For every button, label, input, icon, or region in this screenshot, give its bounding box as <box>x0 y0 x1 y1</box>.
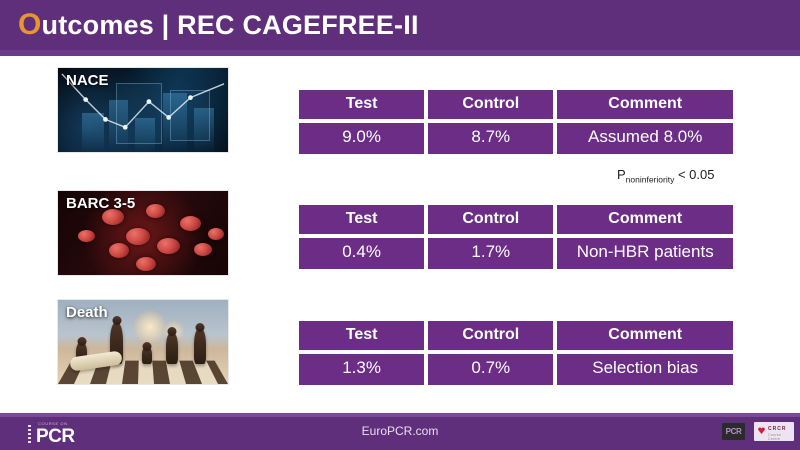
thumbnail-nace[interactable]: NACE <box>57 67 229 153</box>
cell-comment-value: Non-HBR patients <box>555 236 735 271</box>
course-badge-label: CRCR <box>768 426 786 432</box>
column-header-comment: Comment <box>555 88 735 121</box>
cell-test-value: 0.4% <box>297 236 426 271</box>
p-value-annotation: Pnoninferiority < 0.05 <box>617 167 714 185</box>
thumbnail-death[interactable]: Death <box>57 299 229 385</box>
header-accent-strip <box>0 50 800 56</box>
table-header-row: Test Control Comment <box>297 203 735 236</box>
p-comparison: < 0.05 <box>674 167 714 182</box>
p-subscript: noninferiority <box>626 175 675 185</box>
column-header-control: Control <box>426 203 555 236</box>
column-header-control: Control <box>426 319 555 352</box>
cell-control-value: 8.7% <box>426 121 555 156</box>
course-badge-icon: CRCR Course Centre <box>754 422 794 441</box>
cell-control-value: 0.7% <box>426 352 555 387</box>
cell-comment-value: Selection bias <box>555 352 735 387</box>
column-header-test: Test <box>297 88 426 121</box>
page-title: Outcomes | REC CAGEFREE-II <box>18 8 419 42</box>
table-row: 1.3% 0.7% Selection bias <box>297 352 735 387</box>
outcomes-table-death: Test Control Comment 1.3% 0.7% Selection… <box>297 319 735 387</box>
thumbnail-caption: Death <box>66 304 108 321</box>
thumbnail-caption: NACE <box>66 72 109 89</box>
column-header-test: Test <box>297 319 426 352</box>
table-header-row: Test Control Comment <box>297 88 735 121</box>
table-row: 9.0% 8.7% Assumed 8.0% <box>297 121 735 156</box>
column-header-control: Control <box>426 88 555 121</box>
outcomes-table-barc: Test Control Comment 0.4% 1.7% Non-HBR p… <box>297 203 735 271</box>
title-text: utcomes | REC CAGEFREE-II <box>42 10 419 40</box>
pcr-badge-icon: PCR <box>722 423 745 440</box>
thumbnail-barc[interactable]: BARC 3-5 <box>57 190 229 276</box>
table-header-row: Test Control Comment <box>297 319 735 352</box>
column-header-test: Test <box>297 203 426 236</box>
column-header-comment: Comment <box>555 203 735 236</box>
pcr-badge-label: PCR <box>722 423 745 440</box>
p-symbol: P <box>617 167 626 182</box>
table-row: 0.4% 1.7% Non-HBR patients <box>297 236 735 271</box>
cell-test-value: 9.0% <box>297 121 426 156</box>
slide-footer: COURSE ON PCR EuroPCR.com PCR CRCR Cours… <box>0 413 800 450</box>
slide: Outcomes | REC CAGEFREE-II NACE <box>0 0 800 450</box>
cell-control-value: 1.7% <box>426 236 555 271</box>
outcomes-table-nace: Test Control Comment 9.0% 8.7% Assumed 8… <box>297 88 735 156</box>
course-badge-sublabel: Course Centre <box>768 433 794 441</box>
title-lead-letter: O <box>18 8 42 41</box>
heart-icon <box>758 427 765 434</box>
cell-comment-value: Assumed 8.0% <box>555 121 735 156</box>
footer-website: EuroPCR.com <box>0 424 800 438</box>
footer-accent-strip <box>0 413 800 417</box>
thumbnail-caption: BARC 3-5 <box>66 195 135 212</box>
column-header-comment: Comment <box>555 319 735 352</box>
cell-test-value: 1.3% <box>297 352 426 387</box>
